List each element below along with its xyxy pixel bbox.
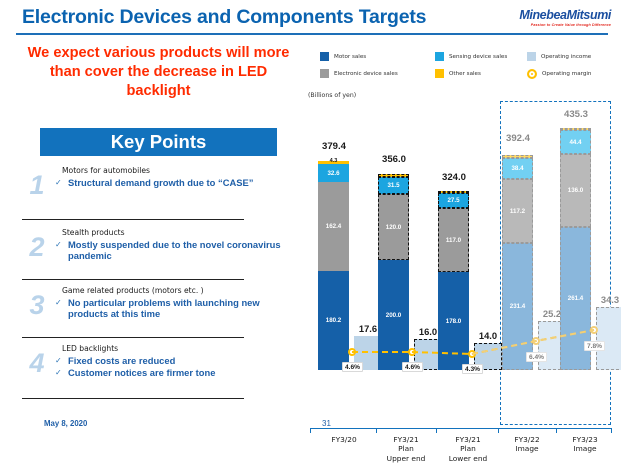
segment-value: 162.4	[326, 223, 341, 230]
check-icon: ✓	[55, 177, 68, 188]
x-axis-tick	[498, 428, 499, 433]
segment-electronic-device-sales: 120.0	[378, 194, 409, 260]
segment-value: 178.0	[446, 318, 461, 325]
operating-margin-marker	[408, 348, 416, 356]
x-label-line: Lower end	[436, 454, 500, 463]
segment-value: 31.5	[387, 182, 399, 189]
bar-total-label: 379.4	[310, 141, 358, 152]
check-icon: ✓	[55, 239, 68, 250]
x-axis-tick	[436, 428, 437, 433]
legend-swatch-operating-margin	[527, 69, 537, 79]
key-point-number: 2	[22, 234, 52, 261]
check-icon: ✓	[55, 297, 68, 308]
segment-motor-sales: 231.4	[502, 243, 533, 370]
key-point-1: 1 Motors for automobiles ✓ Structural de…	[22, 166, 298, 188]
x-axis-tick	[556, 428, 557, 433]
operating-margin-marker	[590, 326, 598, 334]
sales-stack: 231.4 117.2 38.4	[502, 153, 533, 370]
segment-other-sales	[378, 174, 409, 177]
segment-value: 44.4	[569, 139, 581, 146]
sales-stack: 261.4 136.0 44.4	[560, 129, 591, 370]
x-axis-label-fy3-21-upper: FY3/21 Plan Upper end	[374, 435, 438, 463]
legend-label: Sensing device sales	[449, 54, 507, 60]
segment-value: 180.2	[326, 317, 341, 324]
headline-text: We expect various products will more tha…	[16, 44, 301, 101]
key-point-bullet-text: No particular problems with launching ne…	[68, 297, 298, 320]
key-point-number: 1	[22, 172, 52, 199]
legend-swatch-operating-income	[527, 52, 536, 61]
key-point-3: 3 Game related products (motors etc. ) ✓…	[22, 286, 298, 320]
segment-value: 120.0	[386, 224, 401, 231]
legend-label: Electronic device sales	[334, 71, 398, 77]
key-point-heading: LED backlights	[62, 344, 298, 354]
legend-item-electronic-device-sales: Electronic device sales	[320, 69, 398, 78]
segment-other-sales	[438, 191, 469, 193]
legend-item-other-sales: Other sales	[435, 69, 481, 78]
x-label-line: FY3/20	[312, 435, 376, 444]
key-point-bullet: ✓ Customer notices are firmer tone	[55, 367, 298, 378]
legend-swatch-other-sales	[435, 69, 444, 78]
key-point-bullet-text: Structural demand growth due to “CASE”	[68, 177, 253, 188]
brand-name: MinebeaMitsumi	[519, 8, 611, 22]
x-label-line: FY3/21	[374, 435, 438, 444]
segment-sensing-device-sales: 44.4	[560, 130, 591, 154]
segment-other-sales	[502, 155, 533, 158]
footer-date: May 8, 2020	[44, 419, 87, 428]
chart-legend: Motor sales Electronic device sales Sens…	[310, 52, 610, 86]
legend-item-operating-margin: Operating margin	[527, 69, 591, 79]
segment-other-sales-label: 4.3	[318, 158, 349, 164]
operating-income-bar	[596, 307, 621, 370]
key-point-bullet-text: Mostly suspended due to the novel corona…	[68, 239, 298, 262]
segment-electronic-device-sales: 117.0	[438, 208, 469, 272]
segment-sensing-device-sales: 27.5	[438, 193, 469, 208]
segment-other-sales	[560, 128, 591, 130]
segment-value: 117.2	[510, 208, 525, 215]
check-icon: ✓	[55, 355, 68, 366]
operating-margin-label: 4.6%	[402, 362, 423, 372]
bar-total-label: 435.3	[552, 109, 600, 120]
operating-margin-marker	[468, 350, 476, 358]
key-point-bullet: ✓ Structural demand growth due to “CASE”	[55, 177, 298, 188]
key-point-heading: Motors for automobiles	[62, 166, 298, 176]
segment-value: 38.4	[511, 165, 523, 172]
legend-label: Motor sales	[334, 54, 366, 60]
operating-margin-label: 4.3%	[462, 364, 483, 374]
bar-total-label: 356.0	[370, 154, 418, 165]
legend-label: Operating margin	[542, 71, 591, 77]
sales-stack: 180.2 162.4 32.6 4.3	[318, 161, 349, 370]
x-axis-tick	[376, 428, 377, 433]
operating-margin-label: 4.6%	[342, 362, 363, 372]
key-point-bullet: ✓ Mostly suspended due to the novel coro…	[55, 239, 298, 262]
brand-logo: MinebeaMitsumi Passion to Create Value t…	[519, 8, 611, 27]
operating-margin-marker	[348, 348, 356, 356]
key-point-bullet-text: Fixed costs are reduced	[68, 355, 175, 366]
x-label-line: Image	[498, 444, 556, 453]
legend-swatch-electronic-device-sales	[320, 69, 329, 78]
key-point-divider	[22, 337, 244, 338]
key-point-4: 4 LED backlights ✓ Fixed costs are reduc…	[22, 344, 298, 379]
chart-plot-area: 379.4 180.2 162.4 32.6 4.3 17.6 4.6%	[306, 102, 614, 370]
legend-item-operating-income: Operating income	[527, 52, 591, 61]
x-label-line: Plan	[374, 444, 438, 453]
key-point-2: 2 Stealth products ✓ Mostly suspended du…	[22, 228, 298, 262]
segment-motor-sales: 200.0	[378, 260, 409, 370]
x-label-line: FY3/23	[556, 435, 614, 444]
bar-group-fy3-23-image: 435.3 261.4 136.0 44.4 34.3 7.8%	[560, 102, 621, 370]
sales-stack: 200.0 120.0 31.5	[378, 174, 409, 370]
x-axis-tick	[611, 428, 612, 433]
x-label-line: FY3/21	[436, 435, 500, 444]
x-label-line: Plan	[436, 444, 500, 453]
legend-item-motor-sales: Motor sales	[320, 52, 366, 61]
segment-sensing-device-sales: 31.5	[378, 177, 409, 194]
key-point-bullet: ✓ Fixed costs are reduced	[55, 355, 298, 366]
segment-sensing-device-sales: 32.6	[318, 164, 349, 182]
bar-total-label: 392.4	[494, 133, 542, 144]
key-point-heading: Game related products (motors etc. )	[62, 286, 298, 296]
bar-group-fy3-20: 379.4 180.2 162.4 32.6 4.3 17.6 4.6%	[318, 102, 384, 370]
key-point-divider	[22, 279, 244, 280]
operating-margin-marker	[532, 337, 540, 345]
segment-motor-sales: 180.2	[318, 271, 349, 370]
legend-item-sensing-device-sales: Sensing device sales	[435, 52, 507, 61]
x-axis-label-fy3-21-lower: FY3/21 Plan Lower end	[436, 435, 500, 463]
key-point-bullet-text: Customer notices are firmer tone	[68, 367, 215, 378]
key-point-heading: Stealth products	[62, 228, 298, 238]
bar-group-fy3-22-image: 392.4 231.4 117.2 38.4 25.2 6.4%	[502, 102, 568, 370]
title-divider	[16, 33, 608, 35]
edc-targets-chart: Motor sales Electronic device sales Sens…	[306, 44, 614, 390]
x-label-line: Image	[556, 444, 614, 453]
key-points-banner: Key Points	[40, 128, 277, 156]
key-point-number: 3	[22, 292, 52, 319]
check-icon: ✓	[55, 367, 68, 378]
bar-total-label: 324.0	[430, 172, 478, 183]
x-axis-label-fy3-20: FY3/20	[312, 435, 376, 444]
operating-margin-label: 6.4%	[526, 352, 547, 362]
operating-margin-label: 7.8%	[584, 341, 605, 351]
segment-value: 200.0	[386, 312, 401, 319]
x-label-line: FY3/22	[498, 435, 556, 444]
page-title: Electronic Devices and Components Target…	[22, 6, 482, 29]
bar-group-fy3-21-upper: 356.0 200.0 120.0 31.5 16.0 4.6%	[378, 102, 444, 370]
segment-value: 231.4	[510, 303, 525, 310]
segment-value: 117.0	[446, 237, 461, 244]
segment-value: 27.5	[447, 197, 459, 204]
chart-units-note: (Billions of yen)	[308, 92, 356, 99]
x-label-line: Upper end	[374, 454, 438, 463]
x-axis-line	[310, 428, 612, 429]
segment-electronic-device-sales: 162.4	[318, 182, 349, 271]
segment-electronic-device-sales: 136.0	[560, 154, 591, 227]
legend-label: Other sales	[449, 71, 481, 77]
key-point-divider	[22, 219, 244, 220]
sales-stack: 178.0 117.0 27.5	[438, 192, 469, 370]
legend-swatch-motor-sales	[320, 52, 329, 61]
legend-swatch-sensing-device-sales	[435, 52, 444, 61]
brand-tagline: Passion to Create Value through Differen…	[519, 23, 611, 27]
operating-income-label: 34.3	[590, 294, 621, 305]
key-point-number: 4	[22, 350, 52, 377]
legend-label: Operating income	[541, 54, 591, 60]
x-axis-tick	[310, 428, 311, 433]
key-point-bullet: ✓ No particular problems with launching …	[55, 297, 298, 320]
segment-sensing-device-sales: 38.4	[502, 158, 533, 179]
footer-page-number: 31	[322, 419, 331, 428]
segment-value: 261.4	[568, 295, 583, 302]
segment-value: 136.0	[568, 187, 583, 194]
segment-electronic-device-sales: 117.2	[502, 179, 533, 243]
segment-value: 32.6	[327, 170, 339, 177]
key-point-divider	[22, 398, 244, 399]
segment-motor-sales: 178.0	[438, 272, 469, 370]
